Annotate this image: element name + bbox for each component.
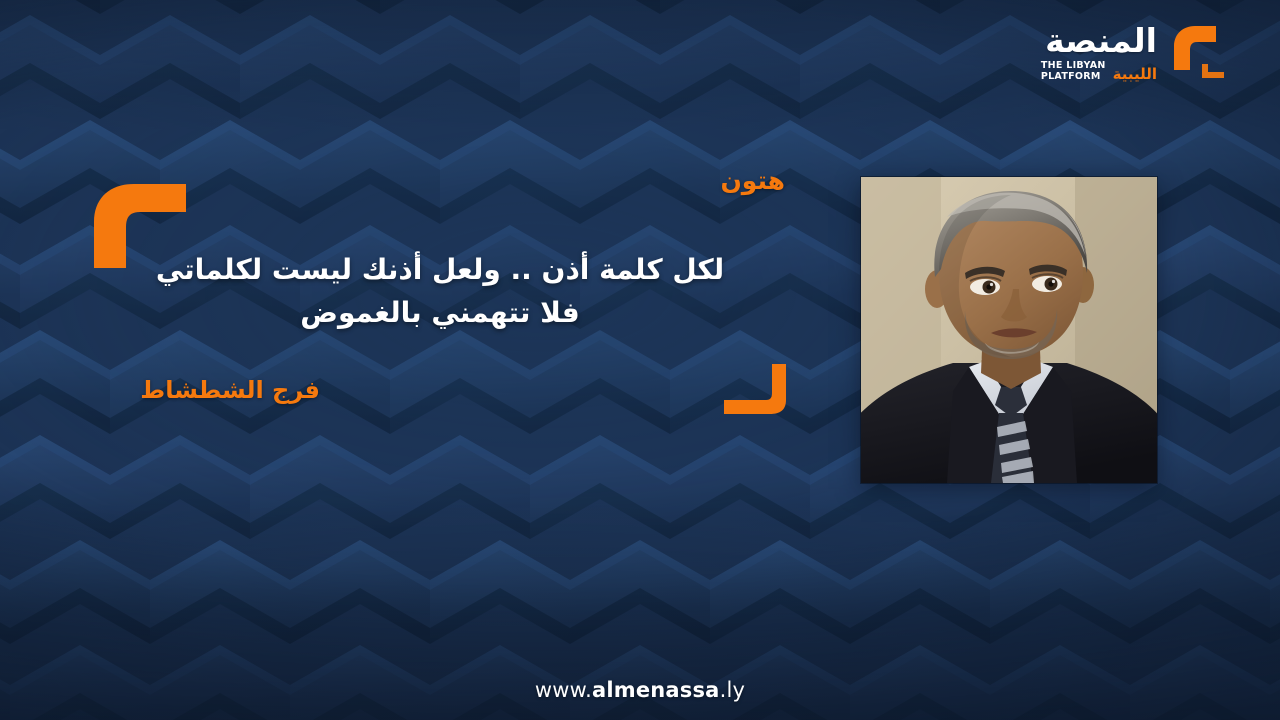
brand-logo[interactable]: المنصة THE LIBYAN PLATFORM الليبية	[1041, 20, 1232, 86]
portrait-photo	[861, 177, 1157, 483]
logo-arabic-subtitle: الليبية	[1113, 67, 1157, 82]
logo-subtitle-row: THE LIBYAN PLATFORM الليبية	[1041, 61, 1157, 83]
footer-website-url[interactable]: www.almenassa.ly	[0, 678, 1280, 702]
quote-text: لكل كلمة أذن .. ولعل أذنك ليست لكلماتي ف…	[140, 248, 740, 335]
author-name: فرج الشطشاط	[140, 378, 320, 402]
logo-mark-icon	[1166, 20, 1232, 86]
logo-text-block: المنصة THE LIBYAN PLATFORM الليبية	[1041, 24, 1157, 83]
logo-english-line-1: THE LIBYAN	[1041, 61, 1106, 72]
logo-english-line-2: PLATFORM	[1041, 72, 1106, 83]
url-tld: .ly	[720, 678, 746, 702]
logo-arabic-wordmark: المنصة	[1045, 24, 1157, 57]
quote-card: المنصة THE LIBYAN PLATFORM الليبية	[0, 0, 1280, 720]
quote-close-icon	[720, 362, 792, 418]
logo-english-wordmark: THE LIBYAN PLATFORM	[1041, 61, 1106, 83]
kicker-label: هتون	[720, 168, 785, 193]
url-prefix: www.	[535, 678, 592, 702]
url-domain: almenassa	[592, 678, 720, 702]
